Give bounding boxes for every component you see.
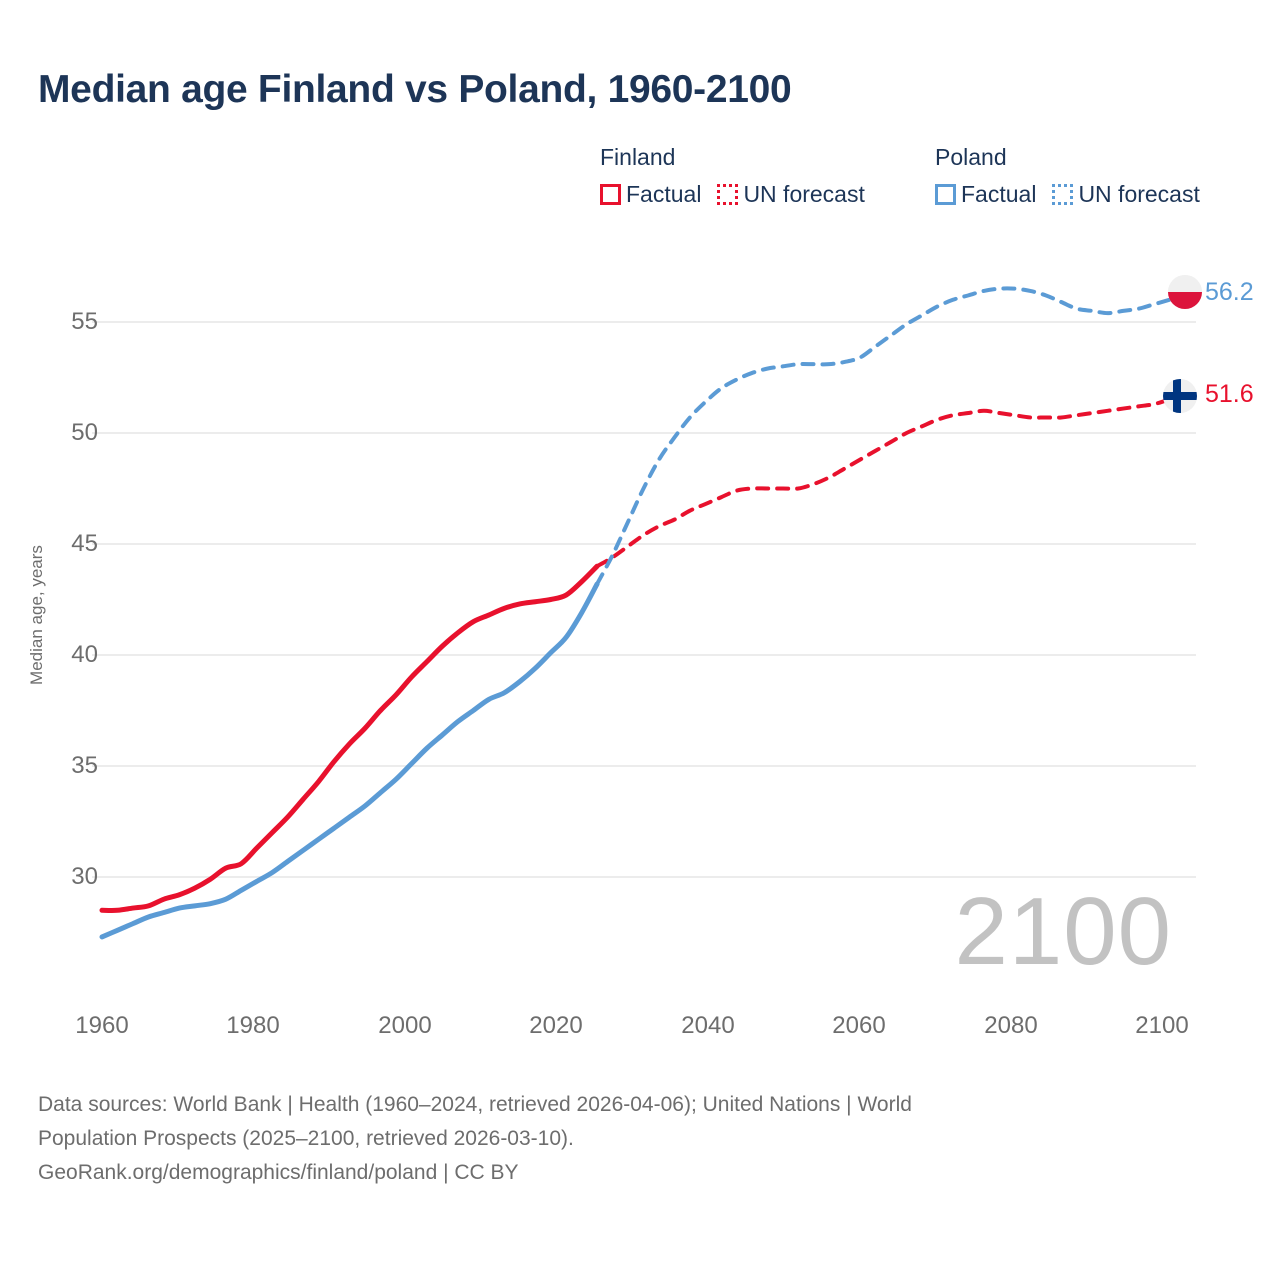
legend-item-poland-factual[interactable]: Factual [935, 183, 1036, 206]
legend-entries-poland: Factual UN forecast [935, 183, 1200, 206]
footer-line-2: Population Prospects (2025–2100, retriev… [38, 1122, 1228, 1156]
footer-line-3[interactable]: GeoRank.org/demographics/finland/poland … [38, 1156, 1228, 1190]
y-axis-label: Median age, years [27, 515, 47, 715]
xtick-label: 2040 [663, 1012, 753, 1040]
ytick-label: 50 [38, 419, 98, 447]
xtick-label: 2100 [1117, 1012, 1207, 1040]
xtick-label: 2080 [966, 1012, 1056, 1040]
chart-page: Median age Finland vs Poland, 1960-2100 … [0, 0, 1280, 1280]
xtick-label: 2000 [360, 1012, 450, 1040]
ytick-label: 45 [38, 530, 98, 558]
gridlines [92, 322, 1196, 877]
finland-flag-icon [1163, 379, 1197, 413]
ytick-label: 40 [38, 641, 98, 669]
ytick-label: 30 [38, 863, 98, 891]
ytick-label: 35 [38, 752, 98, 780]
legend-label-poland-factual: Factual [961, 183, 1036, 206]
xtick-label: 1960 [57, 1012, 147, 1040]
legend-label-finland-forecast: UN forecast [743, 183, 864, 206]
poland-flag-icon [1168, 275, 1202, 309]
footer-line-1: Data sources: World Bank | Health (1960–… [38, 1088, 1228, 1122]
poland-end-value: 56.2 [1205, 278, 1254, 307]
finland-end-value: 51.6 [1205, 380, 1254, 409]
xtick-label: 2020 [511, 1012, 601, 1040]
legend-label-poland-forecast: UN forecast [1078, 183, 1199, 206]
legend-swatch-solid-icon [600, 184, 621, 205]
legend-item-finland-factual[interactable]: Factual [600, 183, 701, 206]
legend-country-finland: Finland [600, 143, 865, 171]
series-lines [102, 288, 1185, 937]
legend-swatch-dotted-icon [717, 184, 738, 205]
legend-item-poland-forecast[interactable]: UN forecast [1052, 183, 1199, 206]
legend-item-finland-forecast[interactable]: UN forecast [717, 183, 864, 206]
legend-country-poland: Poland [935, 143, 1200, 171]
poland-factual-line [102, 584, 597, 937]
ytick-label: 55 [38, 308, 98, 336]
page-title: Median age Finland vs Poland, 1960-2100 [38, 68, 791, 112]
finland-factual-line [102, 566, 597, 910]
footer-sources: Data sources: World Bank | Health (1960–… [38, 1088, 1228, 1190]
legend-group-poland: Poland Factual UN forecast [935, 143, 1200, 206]
year-watermark: 2100 [954, 884, 1172, 980]
xtick-label: 1980 [208, 1012, 298, 1040]
legend-label-finland-factual: Factual [626, 183, 701, 206]
legend-entries-finland: Factual UN forecast [600, 183, 865, 206]
legend-group-finland: Finland Factual UN forecast [600, 143, 865, 206]
poland-forecast-line [597, 288, 1185, 584]
chart-legend: Finland Factual UN forecast Poland Factu… [600, 143, 1260, 223]
legend-swatch-solid-icon [935, 184, 956, 205]
legend-swatch-dotted-icon [1052, 184, 1073, 205]
xtick-label: 2060 [814, 1012, 904, 1040]
finland-forecast-line [597, 397, 1185, 566]
